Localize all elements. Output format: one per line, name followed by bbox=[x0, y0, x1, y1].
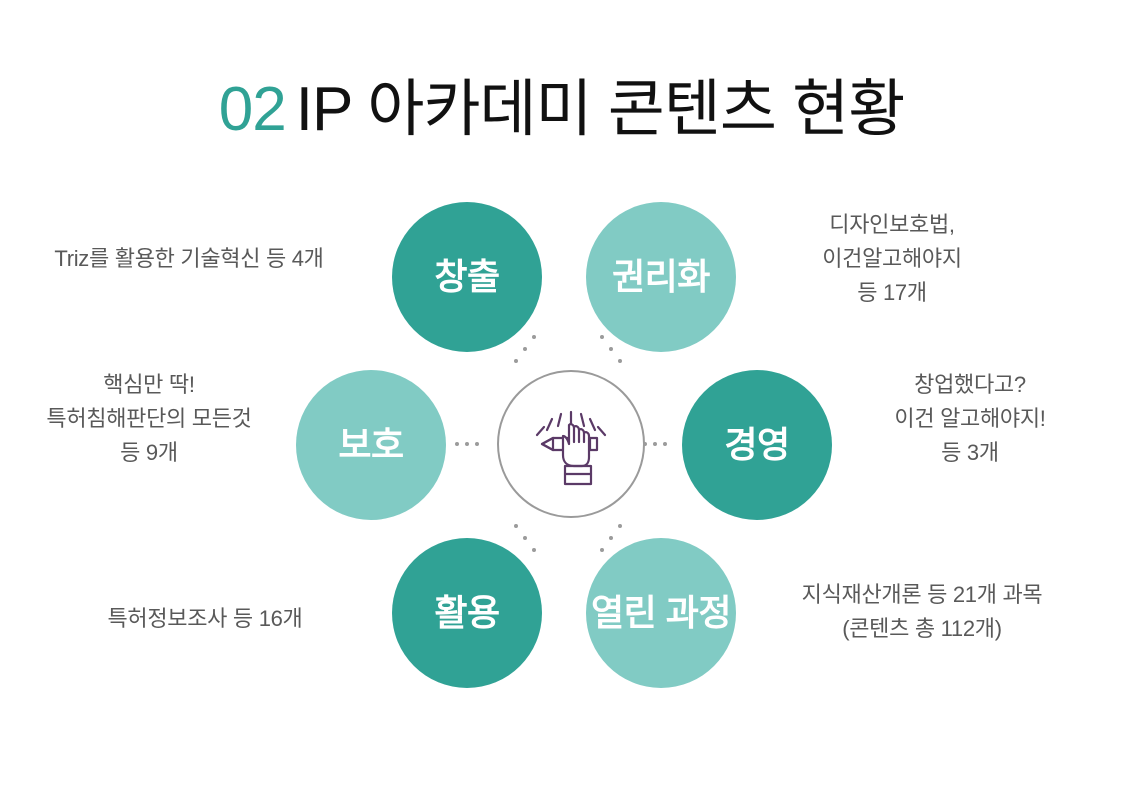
dot bbox=[663, 442, 667, 446]
caption-manage: 창업했다고? 이건 알고해야지! 등 3개 bbox=[840, 368, 1100, 470]
dot bbox=[600, 548, 604, 552]
circle-open-course-label: 열린 과정 bbox=[591, 595, 731, 632]
dot bbox=[532, 335, 536, 339]
circle-rights[interactable]: 권리화 bbox=[586, 202, 736, 352]
dot bbox=[618, 359, 622, 363]
circle-use-label: 활용 bbox=[434, 595, 499, 632]
hand-holding-pencil-idea-icon bbox=[527, 400, 615, 488]
dot bbox=[523, 536, 527, 540]
circle-use[interactable]: 활용 bbox=[392, 538, 542, 688]
dot bbox=[523, 347, 527, 351]
connector-dots-left bbox=[455, 442, 479, 446]
caption-creation: Triz를 활용한 기술혁신 등 4개 bbox=[0, 242, 378, 276]
slide-canvas: 02IP 아카데미 콘텐츠 현황 창출 권리화 보호 경영 활용 열린 과정 bbox=[0, 0, 1123, 794]
caption-use: 특허정보조사 등 16개 bbox=[30, 602, 380, 636]
connector-dots-lower-right bbox=[596, 522, 622, 556]
circle-creation[interactable]: 창출 bbox=[392, 202, 542, 352]
connector-dots-lower-left bbox=[512, 522, 538, 556]
dot bbox=[465, 442, 469, 446]
dot bbox=[600, 335, 604, 339]
connector-dots-upper-right bbox=[596, 335, 622, 369]
circle-protect-label: 보호 bbox=[338, 427, 403, 464]
caption-protect: 핵심만 딱! 특허침해판단의 모든것 등 9개 bbox=[10, 368, 288, 470]
circle-creation-label: 창출 bbox=[434, 259, 499, 296]
circle-rights-label: 권리화 bbox=[612, 259, 710, 296]
circle-manage[interactable]: 경영 bbox=[682, 370, 832, 520]
caption-open-course: 지식재산개론 등 21개 과목 (콘텐츠 총 112개) bbox=[742, 578, 1102, 646]
dot bbox=[455, 442, 459, 446]
page-title: 02IP 아카데미 콘텐츠 현황 bbox=[0, 58, 1123, 148]
dot bbox=[618, 524, 622, 528]
title-number: 02 bbox=[219, 75, 286, 144]
dot bbox=[643, 442, 647, 446]
dot bbox=[653, 442, 657, 446]
hub-and-spoke-diagram: 창출 권리화 보호 경영 활용 열린 과정 bbox=[0, 180, 1123, 720]
caption-rights: 디자인보호법, 이건알고해야지 등 17개 bbox=[742, 208, 1042, 310]
circle-protect[interactable]: 보호 bbox=[296, 370, 446, 520]
connector-dots-upper-left bbox=[512, 335, 538, 369]
title-text: IP 아카데미 콘텐츠 현황 bbox=[296, 75, 905, 144]
connector-dots-right bbox=[643, 442, 667, 446]
circle-manage-label: 경영 bbox=[724, 427, 789, 464]
dot bbox=[532, 548, 536, 552]
dot bbox=[514, 524, 518, 528]
circle-open-course[interactable]: 열린 과정 bbox=[586, 538, 736, 688]
center-hub-circle bbox=[497, 370, 645, 518]
dot bbox=[609, 347, 613, 351]
dot bbox=[609, 536, 613, 540]
dot bbox=[514, 359, 518, 363]
dot bbox=[475, 442, 479, 446]
